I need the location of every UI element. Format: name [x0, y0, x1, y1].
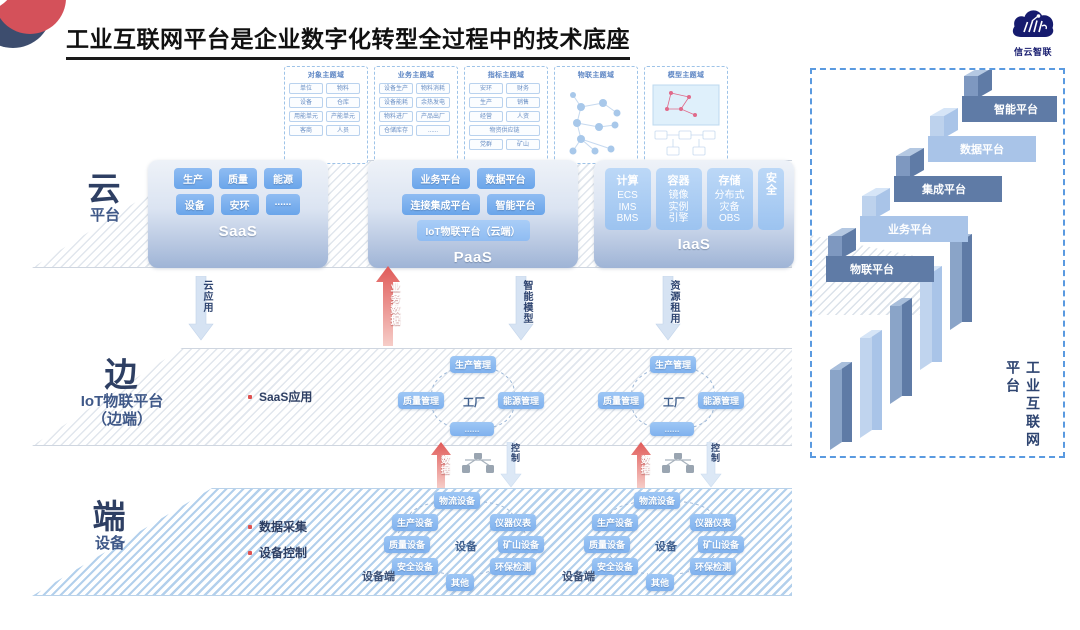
factory-node-right[interactable]: 能源管理 — [698, 392, 744, 409]
device-node-right-lower[interactable]: 环保检测 — [490, 558, 536, 575]
edge-layer-label: 边 IoT物联平台 （边端） — [42, 358, 202, 429]
domain-chip: 党群 — [469, 139, 503, 150]
iaas-column-compute[interactable]: 计算 ECS IMS BMS — [605, 168, 651, 230]
domain-title: 指标主题域 — [469, 70, 543, 80]
saas-chip[interactable]: 生产 — [174, 168, 212, 189]
iaas-card-name: IaaS — [678, 236, 711, 253]
control-arrow-label: 控制 — [500, 443, 522, 463]
iaas-column-items: 镜像 实例 引擎 — [658, 190, 700, 225]
factory-node-bottom[interactable]: ...... — [450, 422, 494, 436]
device-node-right-upper[interactable]: 仪器仪表 — [690, 514, 736, 531]
stair-label-iot[interactable]: 物联平台 — [850, 261, 894, 277]
bullet-dot — [248, 525, 252, 529]
iaas-column-head: 计算 — [607, 172, 649, 188]
domain-chip: 物资供应链 — [469, 125, 540, 136]
saas-chip[interactable]: ...... — [266, 194, 301, 215]
cloud-layer-title: 云 — [70, 172, 140, 207]
list-item: 数据采集 — [248, 518, 307, 535]
flow-arrow-label: 业务数据 — [375, 282, 401, 326]
network-icon — [460, 450, 496, 481]
domain-title: 物联主题域 — [559, 70, 633, 80]
logo-text: 信云智联 — [1000, 45, 1066, 58]
flow-arrow-label: 云应用 — [188, 280, 214, 313]
device-node-top[interactable]: 物流设备 — [434, 492, 480, 509]
iaas-column-security[interactable]: 安全 — [758, 168, 784, 230]
paas-chip[interactable]: 智能平台 — [487, 194, 545, 215]
end-layer-title: 端 — [70, 500, 150, 535]
domain-chip: 单位 — [289, 83, 323, 94]
list-item: SaaS应用 — [248, 388, 312, 405]
data-arrow-1: 数据 — [430, 442, 456, 488]
flow-arrow-business-data: 业务数据 — [375, 266, 401, 346]
device-node-left-mid[interactable]: 质量设备 — [584, 536, 630, 553]
domain-chip: 设备 — [289, 97, 323, 108]
bullet-dot — [248, 395, 252, 399]
device-node-bottom[interactable]: 其他 — [646, 574, 674, 591]
domain-chip: 客商 — [289, 125, 323, 136]
domain-title: 业务主题域 — [379, 70, 453, 80]
factory-cluster-1: 生产管理 质量管理 工厂 能源管理 ...... — [398, 352, 548, 440]
domain-box-business: 业务主题域 设备生产 物料消耗 设备能耗 余热发电 物料进厂 产品出厂 仓储库存… — [374, 66, 458, 164]
stair-label-business[interactable]: 业务平台 — [888, 221, 932, 237]
control-arrow-label: 控制 — [700, 443, 722, 463]
device-cluster-caption: 设备端 — [562, 568, 595, 584]
device-cluster-1: 物流设备 生产设备 仪器仪表 质量设备 设备 矿山设备 安全设备 环保检测 其他… — [374, 490, 564, 586]
control-arrow-1: 控制 — [500, 442, 526, 488]
domain-chip: 销售 — [506, 97, 540, 108]
saas-chip[interactable]: 设备 — [176, 194, 214, 215]
stairs-caption: 工业互联网平台 — [1003, 360, 1043, 456]
device-node-right-mid[interactable]: 矿山设备 — [698, 536, 744, 553]
domain-chip: 物料 — [326, 83, 360, 94]
bullet-label: 数据采集 — [259, 518, 307, 535]
iaas-column-head: 安全 — [763, 172, 779, 196]
factory-node-right[interactable]: 能源管理 — [498, 392, 544, 409]
paas-chip[interactable]: 业务平台 — [412, 168, 470, 189]
domain-chip: 设备生产 — [379, 83, 413, 94]
domain-title: 对象主题域 — [289, 70, 363, 80]
saas-chip[interactable]: 安环 — [221, 194, 259, 215]
edge-layer-title: 边 — [42, 358, 202, 393]
data-arrow-label: 数据 — [430, 455, 452, 475]
factory-node-top[interactable]: 生产管理 — [650, 356, 696, 373]
device-node-bottom[interactable]: 其他 — [446, 574, 474, 591]
edge-layer-subtitle: IoT物联平台 — [42, 393, 202, 411]
domain-chip: 仓库 — [326, 97, 360, 108]
device-node-left-upper[interactable]: 生产设备 — [592, 514, 638, 531]
domain-chip: 物料进厂 — [379, 111, 413, 122]
end-layer-subtitle: 设备 — [70, 535, 150, 553]
data-arrow-2: 数据 — [630, 442, 656, 488]
paas-iot-chip[interactable]: IoT物联平台（云端） — [417, 220, 530, 241]
domain-chip: 仓储库存 — [379, 125, 413, 136]
iaas-column-container[interactable]: 容器 镜像 实例 引擎 — [656, 168, 702, 230]
domain-chip: 设备能耗 — [379, 97, 413, 108]
bullet-dot — [248, 551, 252, 555]
domain-chip: 人资 — [506, 111, 540, 122]
device-node-left-mid[interactable]: 质量设备 — [384, 536, 430, 553]
flow-arrow-label: 资源租用 — [655, 280, 681, 324]
page-title: 工业互联网平台是企业数字化转型全过程中的技术底座 — [66, 20, 630, 60]
iaas-column-head: 容器 — [658, 172, 700, 188]
cloud-logo-icon — [1010, 4, 1056, 44]
control-arrow-2: 控制 — [700, 442, 726, 488]
domain-chip: 经营 — [469, 111, 503, 122]
flow-arrow-resource-rent: 资源租用 — [655, 276, 681, 342]
device-cluster-2: 物流设备 生产设备 仪器仪表 质量设备 设备 矿山设备 安全设备 环保检测 其他… — [574, 490, 764, 586]
device-node-center: 设备 — [650, 536, 682, 556]
domain-chip: 产能单元 — [326, 111, 360, 122]
domain-chip: 产品出厂 — [416, 111, 450, 122]
domain-chip: ...... — [416, 125, 450, 136]
paas-card[interactable]: 业务平台 数据平台 连接集成平台 智能平台 IoT物联平台（云端） PaaS — [368, 160, 578, 268]
data-control-group-2: 数据 控制 — [630, 442, 726, 488]
saas-card[interactable]: 生产 质量 能源 设备 安环 ...... SaaS — [148, 160, 328, 268]
slide-canvas: 信云智联 工业互联网平台是企业数字化转型全过程中的技术底座 对象主题域 单位 物… — [0, 0, 1080, 630]
domain-chip: 人员 — [326, 125, 360, 136]
factory-node-top[interactable]: 生产管理 — [450, 356, 496, 373]
iaas-column-head: 存储 — [709, 172, 751, 188]
saas-chip[interactable]: 质量 — [219, 168, 257, 189]
domain-chip: 矿山 — [506, 139, 540, 150]
domain-chip: 财务 — [506, 83, 540, 94]
flow-arrow-label: 智能模型 — [508, 280, 534, 324]
brand-logo: 信云智联 — [1000, 4, 1066, 58]
device-node-right-upper[interactable]: 仪器仪表 — [490, 514, 536, 531]
factory-node-left[interactable]: 质量管理 — [398, 392, 444, 409]
end-layer-label: 端 设备 — [70, 500, 150, 553]
stair-label-data[interactable]: 数据平台 — [960, 141, 1004, 157]
device-node-top[interactable]: 物流设备 — [634, 492, 680, 509]
domain-title: 模型主题域 — [649, 70, 723, 80]
iaas-column-items: ECS IMS BMS — [607, 190, 649, 225]
domain-box-model: 模型主题域 — [644, 66, 728, 164]
network-icon — [660, 450, 696, 481]
flow-arrow-ai-model: 智能模型 — [508, 276, 534, 342]
corner-decoration — [0, 0, 66, 62]
factory-node-bottom[interactable]: ...... — [650, 422, 694, 436]
domain-chip: 用能单元 — [289, 111, 323, 122]
edge-layer-subtitle2: （边端） — [42, 411, 202, 429]
device-node-left-lower[interactable]: 安全设备 — [592, 558, 638, 575]
device-node-right-lower[interactable]: 环保检测 — [690, 558, 736, 575]
saas-chip[interactable]: 能源 — [264, 168, 302, 189]
paas-chip[interactable]: 数据平台 — [477, 168, 535, 189]
flow-arrow-cloud-app: 云应用 — [188, 276, 214, 342]
stair-label-intelligent[interactable]: 智能平台 — [994, 101, 1038, 117]
device-node-center: 设备 — [450, 536, 482, 556]
platform-stairs-panel: 物联平台 业务平台 集成平台 数据平台 智能平台 工业互联网平台 — [810, 68, 1065, 458]
iaas-card[interactable]: 计算 ECS IMS BMS 容器 镜像 实例 引擎 存储 分布式 灾备 OBS… — [594, 160, 794, 268]
domain-box-metric: 指标主题域 安环 财务 生产 销售 经营 人资 物资供应链 党群 矿山 — [464, 66, 548, 164]
domain-chip: 安环 — [469, 83, 503, 94]
saas-card-name: SaaS — [219, 223, 258, 240]
domain-chip: 生产 — [469, 97, 503, 108]
bullet-label: SaaS应用 — [259, 388, 312, 405]
device-node-right-mid[interactable]: 矿山设备 — [498, 536, 544, 553]
factory-node-left[interactable]: 质量管理 — [598, 392, 644, 409]
list-item: 设备控制 — [248, 544, 307, 561]
iaas-column-items: 分布式 灾备 OBS — [709, 190, 751, 225]
device-cluster-caption: 设备端 — [362, 568, 395, 584]
model-illustration — [649, 83, 723, 159]
bullet-label: 设备控制 — [259, 544, 307, 561]
cloud-layer-label: 云 平台 — [70, 172, 140, 225]
paas-chip[interactable]: 连接集成平台 — [402, 194, 480, 215]
data-arrow-label: 数据 — [630, 455, 652, 475]
factory-node-center: 工厂 — [458, 392, 490, 412]
device-node-left-lower[interactable]: 安全设备 — [392, 558, 438, 575]
domain-box-object: 对象主题域 单位 物料 设备 仓库 用能单元 产能单元 客商 人员 — [284, 66, 368, 164]
cloud-layer-subtitle: 平台 — [70, 207, 140, 225]
domain-chip: 余热发电 — [416, 97, 450, 108]
domain-chip: 物料消耗 — [416, 83, 450, 94]
factory-node-center: 工厂 — [658, 392, 690, 412]
device-node-left-upper[interactable]: 生产设备 — [392, 514, 438, 531]
subject-domain-group: 对象主题域 单位 物料 设备 仓库 用能单元 产能单元 客商 人员 业务主题域 … — [284, 66, 728, 164]
paas-card-name: PaaS — [454, 249, 493, 266]
iot-graph-illustration — [559, 83, 633, 159]
end-bullet-list: 数据采集 设备控制 — [248, 518, 307, 570]
data-control-group-1: 数据 控制 — [430, 442, 526, 488]
edge-bullet-list: SaaS应用 — [248, 388, 312, 414]
factory-cluster-2: 生产管理 质量管理 工厂 能源管理 ...... — [598, 352, 748, 440]
stair-label-integration[interactable]: 集成平台 — [922, 181, 966, 197]
iaas-column-storage[interactable]: 存储 分布式 灾备 OBS — [707, 168, 753, 230]
domain-box-iot: 物联主题域 — [554, 66, 638, 164]
